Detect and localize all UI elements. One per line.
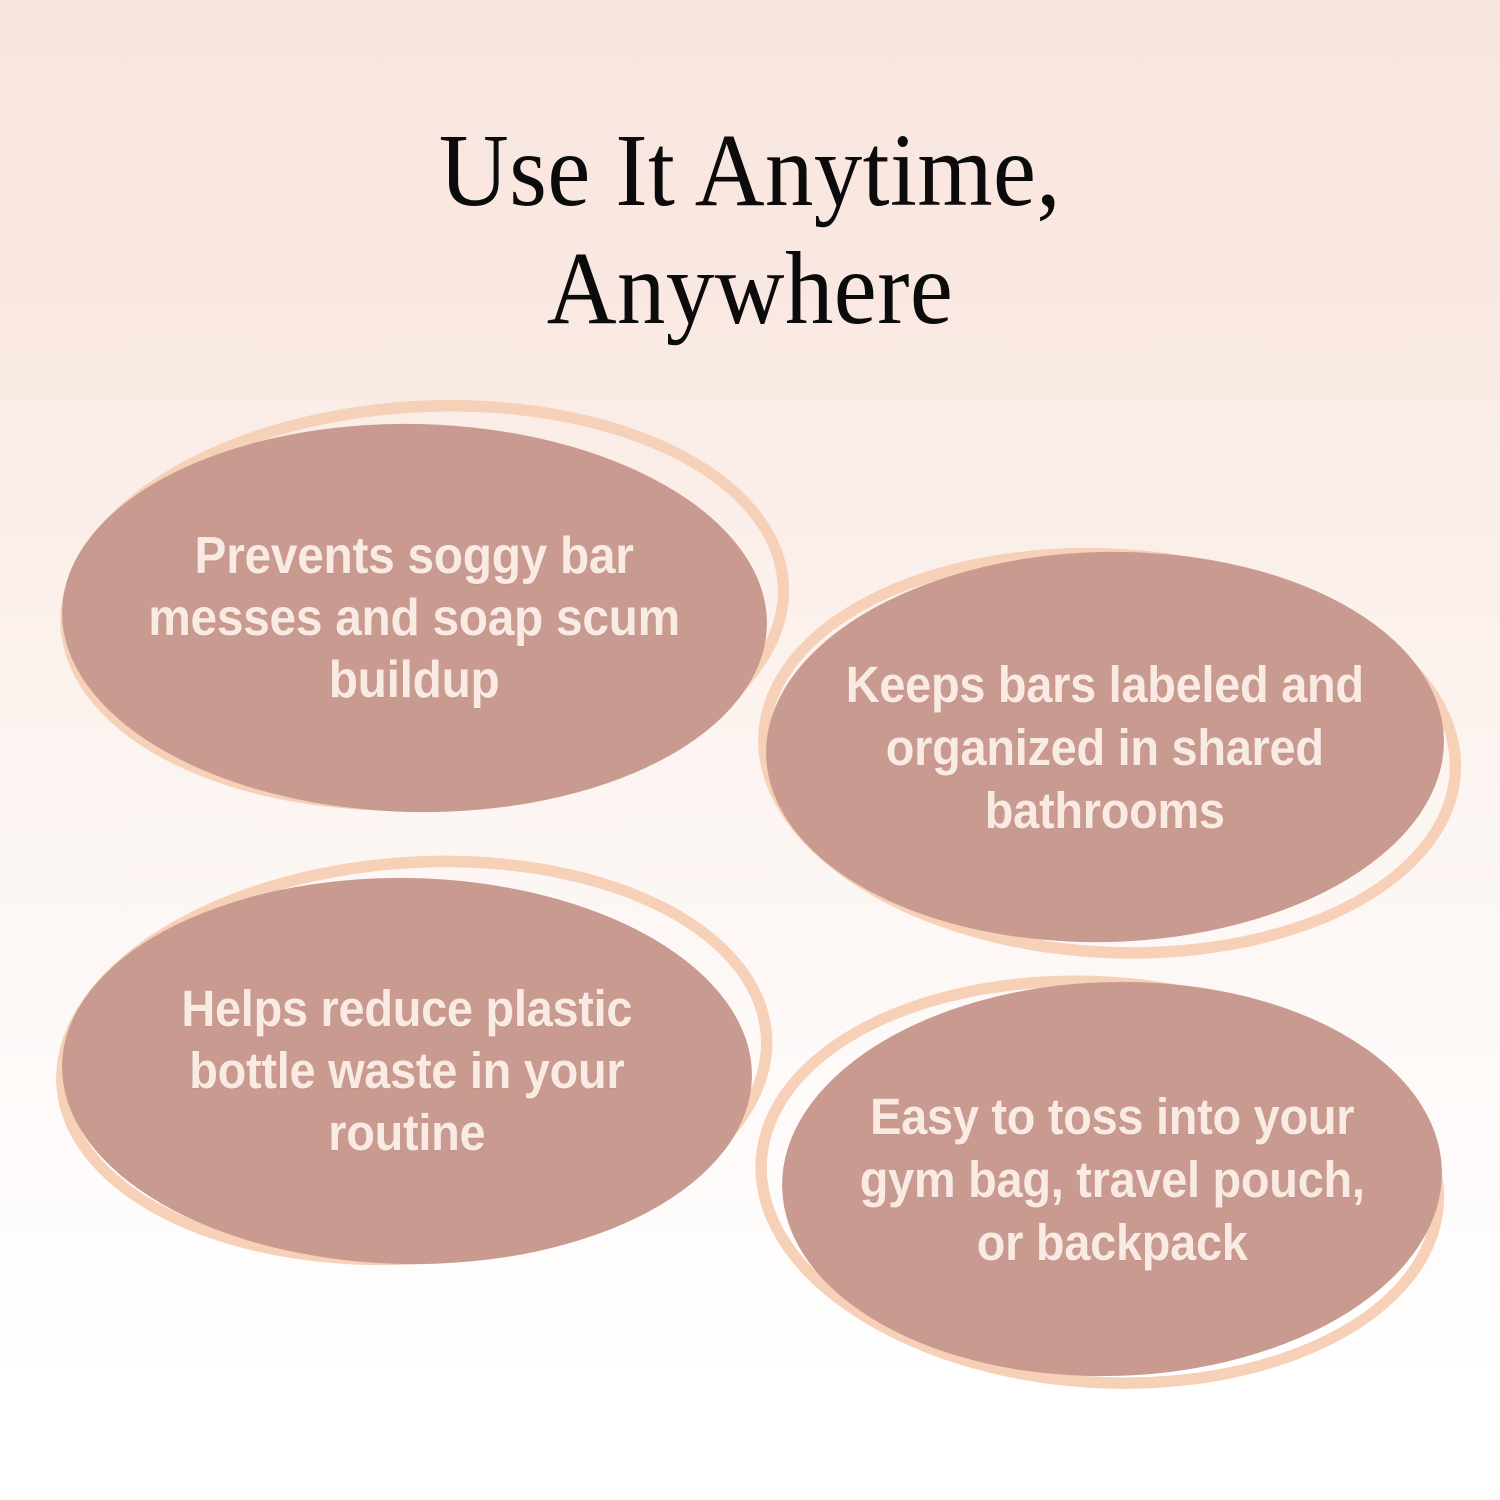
infographic-canvas: Use It Anytime, Anywhere Prevents soggy …: [0, 0, 1500, 1500]
benefit-text-prevents-soggy-bar: Prevents soggy bar messes and soap scum …: [142, 424, 687, 812]
benefit-ellipse-keeps-bars-labeled: Keeps bars labeled and organized in shar…: [766, 552, 1444, 942]
benefit-text-keeps-bars-labeled: Keeps bars labeled and organized in shar…: [843, 552, 1367, 942]
benefit-ellipse-reduce-plastic-waste: Helps reduce plastic bottle waste in you…: [62, 878, 752, 1264]
benefit-text-easy-to-toss: Easy to toss into your gym bag, travel p…: [857, 982, 1367, 1376]
benefit-text-reduce-plastic-waste: Helps reduce plastic bottle waste in you…: [140, 878, 673, 1264]
benefit-ellipse-easy-to-toss: Easy to toss into your gym bag, travel p…: [782, 982, 1442, 1376]
page-title-line-2: Anywhere: [53, 230, 1448, 348]
benefit-ellipse-prevents-soggy-bar: Prevents soggy bar messes and soap scum …: [62, 424, 767, 812]
page-title-line-1: Use It Anytime,: [53, 112, 1448, 230]
page-title: Use It Anytime, Anywhere: [0, 112, 1500, 348]
